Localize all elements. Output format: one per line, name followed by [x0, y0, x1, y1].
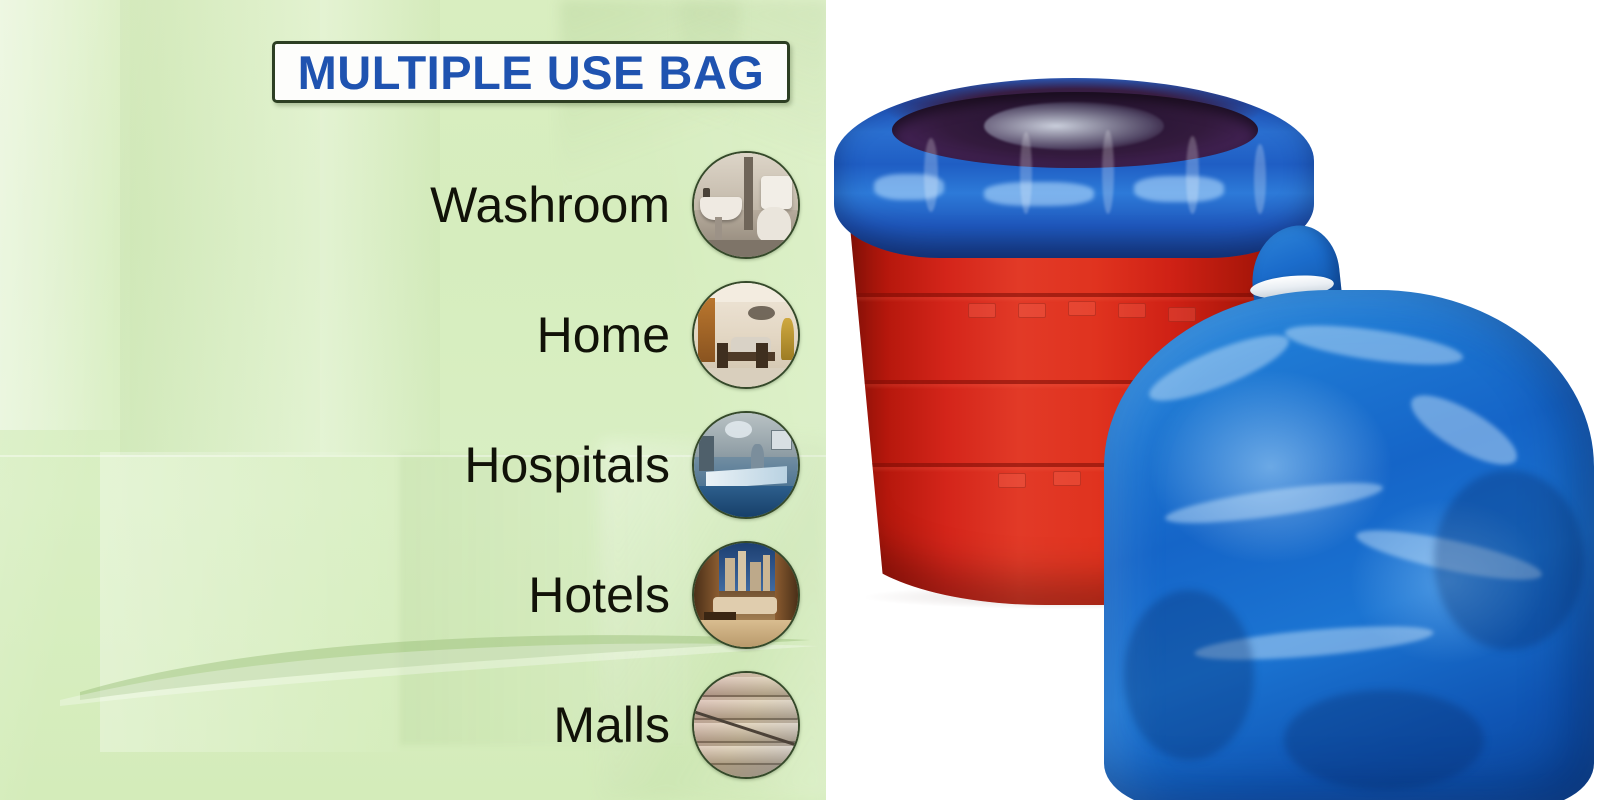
- title-banner: MULTIPLE USE BAG: [272, 41, 790, 103]
- washroom-photo-icon: [692, 151, 800, 259]
- use-case-list: Washroom Home: [300, 140, 800, 790]
- home-photo-icon: [692, 281, 800, 389]
- product-photo: [826, 0, 1600, 800]
- mall-photo-icon: [692, 671, 800, 779]
- use-case-label: Washroom: [430, 180, 670, 230]
- use-case-label: Hotels: [528, 570, 670, 620]
- features-panel: MULTIPLE USE BAG Washroom Home: [0, 0, 826, 800]
- hotel-photo-icon: [692, 541, 800, 649]
- hospital-photo-icon: [692, 411, 800, 519]
- use-case-label: Home: [537, 310, 670, 360]
- use-case-label: Malls: [553, 700, 670, 750]
- use-case-item-home: Home: [300, 270, 800, 400]
- use-case-item-hospitals: Hospitals: [300, 400, 800, 530]
- use-case-label: Hospitals: [464, 440, 670, 490]
- tied-blue-garbage-bag-icon: [1104, 290, 1594, 800]
- use-case-item-hotels: Hotels: [300, 530, 800, 660]
- lined-red-bin-icon: [834, 78, 1314, 258]
- use-case-item-malls: Malls: [300, 660, 800, 790]
- plastic-fold-highlight: [0, 0, 130, 430]
- use-case-item-washroom: Washroom: [300, 140, 800, 270]
- product-image-canvas: MULTIPLE USE BAG Washroom Home: [0, 0, 1600, 800]
- page-title: MULTIPLE USE BAG: [298, 49, 765, 96]
